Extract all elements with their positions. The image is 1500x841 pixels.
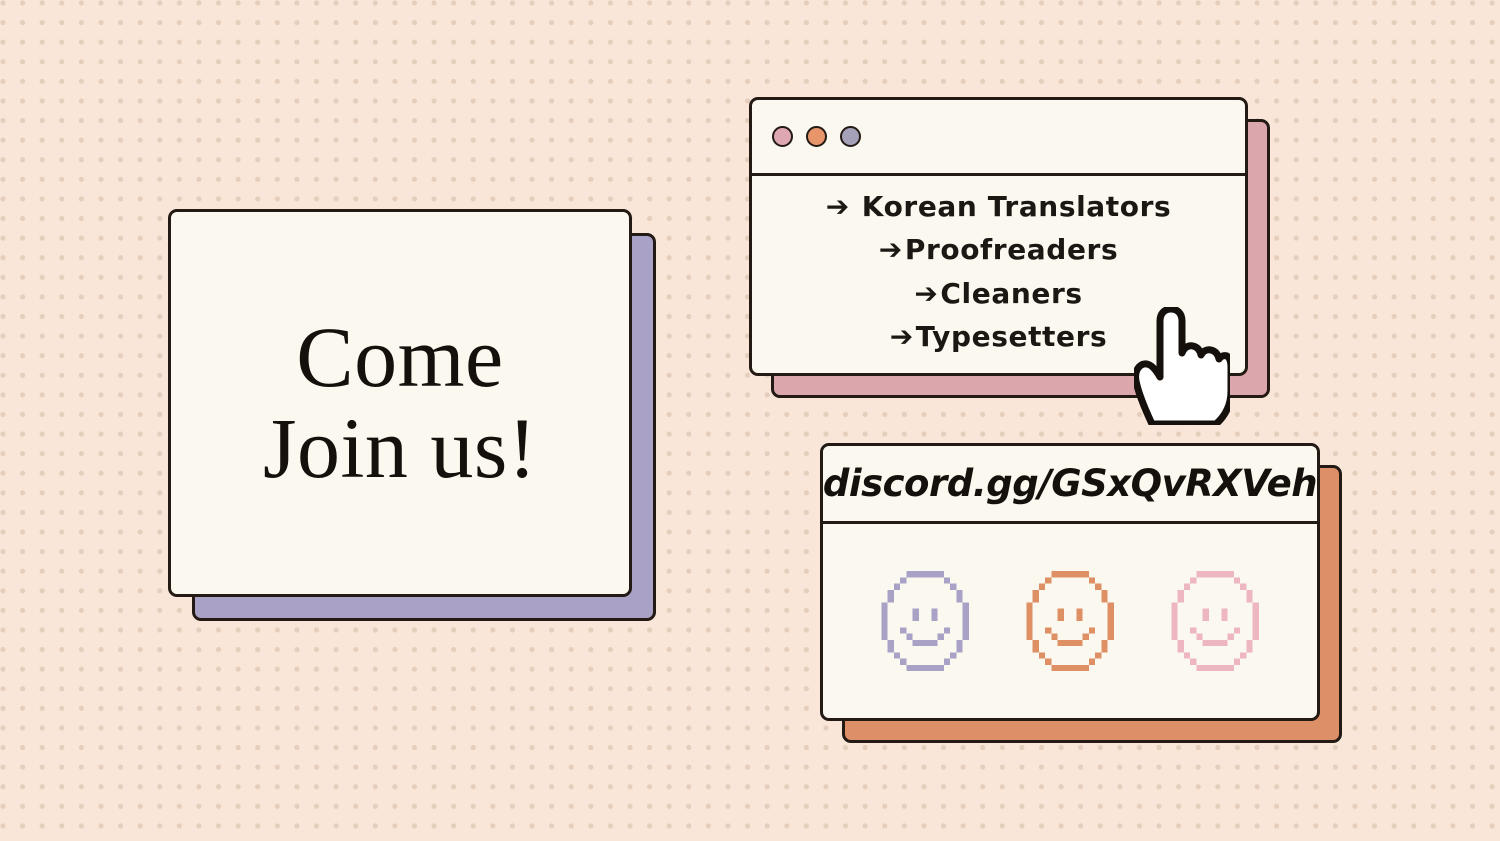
join-card-headline: Come Join us! bbox=[171, 312, 629, 494]
arrow-right-icon: ➔ bbox=[914, 273, 938, 314]
smiley-orange-icon bbox=[1020, 571, 1120, 671]
role-label-1: Proofreaders bbox=[905, 229, 1118, 270]
roles-window-face: ➔Korean Translators ➔Proofreaders ➔Clean… bbox=[749, 97, 1248, 376]
join-headline-line1: Come bbox=[189, 312, 611, 403]
discord-invite-link[interactable]: discord.gg/GSxQvRXVeh bbox=[823, 462, 1317, 505]
role-item-0: ➔Korean Translators bbox=[826, 186, 1172, 227]
smiley-pink-icon bbox=[1165, 571, 1265, 671]
discord-window-face: discord.gg/GSxQvRXVeh bbox=[820, 443, 1320, 721]
arrow-right-icon: ➔ bbox=[890, 316, 914, 357]
smiley-row bbox=[823, 524, 1317, 718]
come-join-us-card: Come Join us! bbox=[168, 209, 656, 621]
discord-url-bar[interactable]: discord.gg/GSxQvRXVeh bbox=[823, 446, 1317, 524]
role-item-1: ➔Proofreaders bbox=[879, 229, 1118, 270]
role-label-2: Cleaners bbox=[940, 273, 1082, 314]
roles-list: ➔Korean Translators ➔Proofreaders ➔Clean… bbox=[752, 176, 1245, 373]
role-label-3: Typesetters bbox=[916, 316, 1108, 357]
arrow-right-icon: ➔ bbox=[879, 229, 903, 270]
roles-window-titlebar bbox=[752, 100, 1245, 176]
window-dot-pink-icon[interactable] bbox=[772, 126, 793, 147]
role-label-0: Korean Translators bbox=[862, 186, 1172, 227]
arrow-right-icon: ➔ bbox=[826, 186, 850, 227]
window-dot-orange-icon[interactable] bbox=[806, 126, 827, 147]
join-headline-line2: Join us! bbox=[189, 403, 611, 494]
role-item-3: ➔Typesetters bbox=[890, 316, 1108, 357]
roles-window: ➔Korean Translators ➔Proofreaders ➔Clean… bbox=[749, 97, 1270, 398]
window-dot-purple-icon[interactable] bbox=[840, 126, 861, 147]
discord-window: discord.gg/GSxQvRXVeh bbox=[820, 443, 1342, 743]
smiley-lavender-icon bbox=[875, 571, 975, 671]
role-item-2: ➔Cleaners bbox=[914, 273, 1082, 314]
join-card-face: Come Join us! bbox=[168, 209, 632, 597]
